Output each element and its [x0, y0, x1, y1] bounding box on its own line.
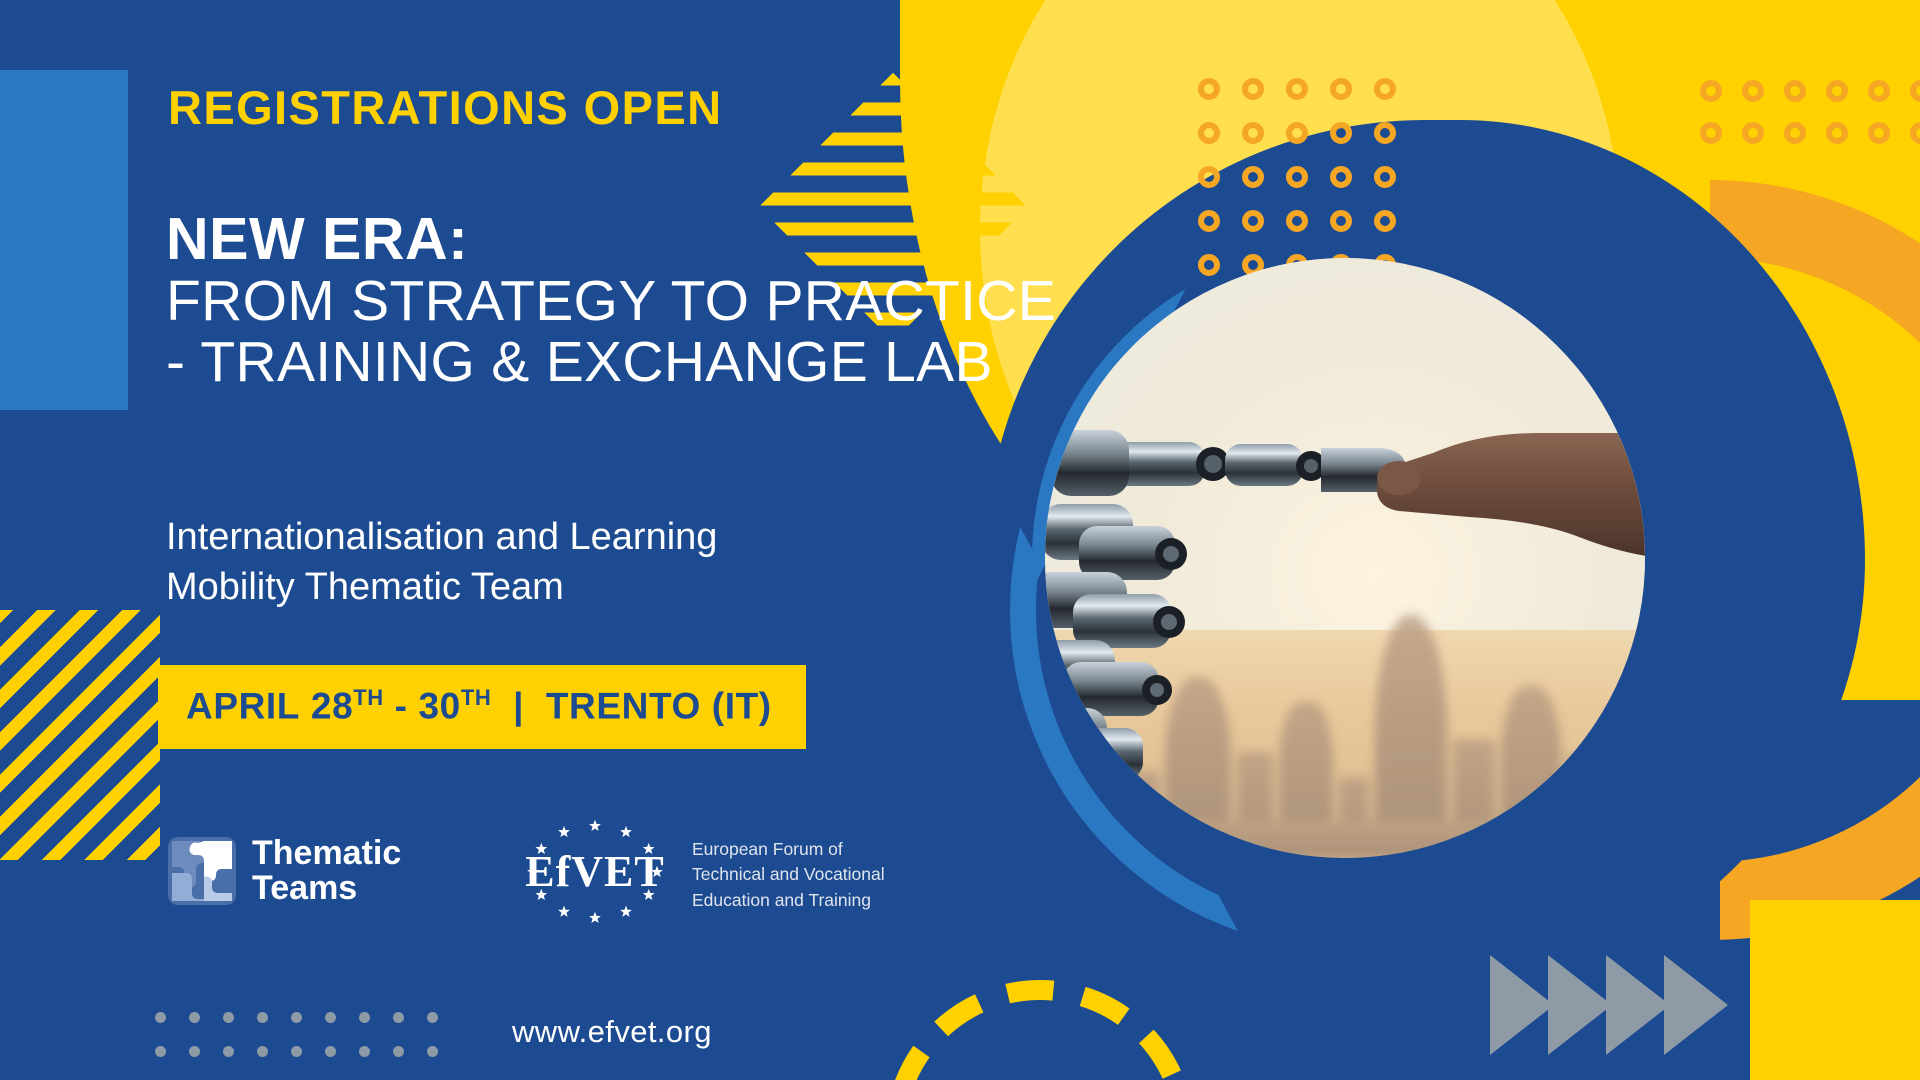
arrow-left-icon: [1548, 955, 1612, 1055]
left-accent-bar: [0, 70, 128, 410]
robot-hand-human-hand-photo: [1045, 258, 1645, 858]
subtitle-line-1: Internationalisation and Learning: [166, 512, 717, 562]
gray-dot: [427, 1012, 438, 1023]
date-location-banner: APRIL 28TH - 30TH | TRENTO (IT): [158, 665, 806, 749]
ring-dot: [1826, 122, 1848, 144]
gray-dot: [359, 1046, 370, 1057]
ring-dot: [1330, 210, 1352, 232]
gray-dot: [393, 1046, 404, 1057]
thematic-teams-line-1: Thematic: [252, 836, 401, 871]
ring-dot: [1242, 122, 1264, 144]
ring-dot: [1198, 78, 1220, 100]
ring-dot: [1374, 166, 1396, 188]
svg-text:EfVET: EfVET: [525, 847, 664, 896]
ring-dot: [1286, 166, 1308, 188]
date-separator: |: [513, 685, 524, 726]
ring-dot: [1286, 78, 1308, 100]
subtitle: Internationalisation and Learning Mobili…: [166, 512, 717, 612]
gray-dot: [155, 1046, 166, 1057]
ring-dot: [1286, 210, 1308, 232]
gray-dot: [291, 1012, 302, 1023]
arrow-group: [1490, 955, 1722, 1055]
gray-dot: [325, 1046, 336, 1057]
ring-dot: [1826, 80, 1848, 102]
arrow-left-icon: [1664, 955, 1728, 1055]
efvet-tagline: European Forum of Technical and Vocation…: [692, 837, 885, 913]
puzzle-pieces-icon: [168, 837, 236, 905]
gray-dot: [189, 1012, 200, 1023]
ring-dot: [1374, 122, 1396, 144]
eu-star-icon: [558, 826, 570, 837]
eu-star-icon: [620, 906, 632, 917]
striped-diamond-left: [0, 610, 160, 860]
eu-star-icon: [620, 826, 632, 837]
thematic-teams-wordmark: Thematic Teams: [252, 836, 401, 907]
thematic-teams-line-2: Teams: [252, 871, 401, 906]
efvet-tagline-line-1: European Forum of: [692, 837, 885, 862]
website-url[interactable]: www.efvet.org: [512, 1014, 712, 1050]
page-title: NEW ERA: FROM STRATEGY TO PRACTICE - TRA…: [166, 208, 1056, 393]
efvet-tagline-line-2: Technical and Vocational: [692, 862, 885, 887]
arrow-left-icon: [1606, 955, 1670, 1055]
gray-dot: [155, 1012, 166, 1023]
ring-dot: [1242, 166, 1264, 188]
gray-dot: [257, 1012, 268, 1023]
title-line-3: - TRAINING & EXCHANGE LAB: [166, 332, 1056, 393]
eu-star-icon: [589, 912, 601, 923]
title-line-2: FROM STRATEGY TO PRACTICE: [166, 271, 1056, 332]
gray-dot: [427, 1046, 438, 1057]
ring-dot: [1910, 122, 1920, 144]
event-location: TRENTO (IT): [546, 685, 772, 726]
ring-dot: [1330, 166, 1352, 188]
ring-dot: [1700, 122, 1722, 144]
ring-dot: [1742, 122, 1764, 144]
efvet-tagline-line-3: Education and Training: [692, 888, 885, 913]
eu-star-icon: [558, 906, 570, 917]
ring-dot: [1374, 210, 1396, 232]
gray-dot: [325, 1012, 336, 1023]
ring-dot: [1330, 78, 1352, 100]
gray-dot-grid: [155, 1012, 461, 1080]
ring-dot-grid-small: [1700, 80, 1920, 164]
ring-dot: [1330, 122, 1352, 144]
gray-dot: [257, 1046, 268, 1057]
gray-dot: [393, 1012, 404, 1023]
gray-dot: [359, 1012, 370, 1023]
efvet-mark-icon: EfVET: [516, 816, 674, 934]
date-month: APRIL: [186, 685, 300, 726]
ring-dot: [1198, 166, 1220, 188]
ring-dot: [1198, 210, 1220, 232]
ring-dot: [1242, 210, 1264, 232]
thematic-teams-logo: Thematic Teams: [168, 836, 401, 907]
ring-dot: [1286, 122, 1308, 144]
ring-dot: [1198, 122, 1220, 144]
poster-canvas: REGISTRATIONS OPEN NEW ERA: FROM STRATEG…: [0, 0, 1920, 1080]
date-day-start-suffix: TH: [353, 685, 384, 710]
eu-star-icon: [589, 820, 601, 831]
title-line-1: NEW ERA:: [166, 208, 1056, 271]
kicker-registrations-open: REGISTRATIONS OPEN: [168, 80, 722, 135]
ring-dot: [1742, 80, 1764, 102]
date-day-end-suffix: TH: [461, 685, 492, 710]
ring-dot: [1784, 80, 1806, 102]
dashed-arc-decoration: [880, 975, 1200, 1080]
gray-dot: [189, 1046, 200, 1057]
date-dash: -: [395, 685, 408, 726]
ring-dot: [1784, 122, 1806, 144]
ring-dot: [1868, 80, 1890, 102]
gray-dot: [223, 1012, 234, 1023]
ring-dot: [1242, 78, 1264, 100]
efvet-logo: EfVET European Forum of Technical and Vo…: [516, 816, 885, 934]
date-day-start: 28: [311, 685, 353, 726]
bottom-right-yellow-block: [1750, 900, 1920, 1080]
gray-dot: [291, 1046, 302, 1057]
ring-dot: [1374, 78, 1396, 100]
gray-dot: [223, 1046, 234, 1057]
ring-dot: [1868, 122, 1890, 144]
date-day-end: 30: [418, 685, 460, 726]
human-hand-graphic: [1359, 420, 1645, 660]
ring-dot: [1910, 80, 1920, 102]
ring-dot: [1700, 80, 1722, 102]
subtitle-line-2: Mobility Thematic Team: [166, 562, 717, 612]
arrow-left-icon: [1490, 955, 1554, 1055]
